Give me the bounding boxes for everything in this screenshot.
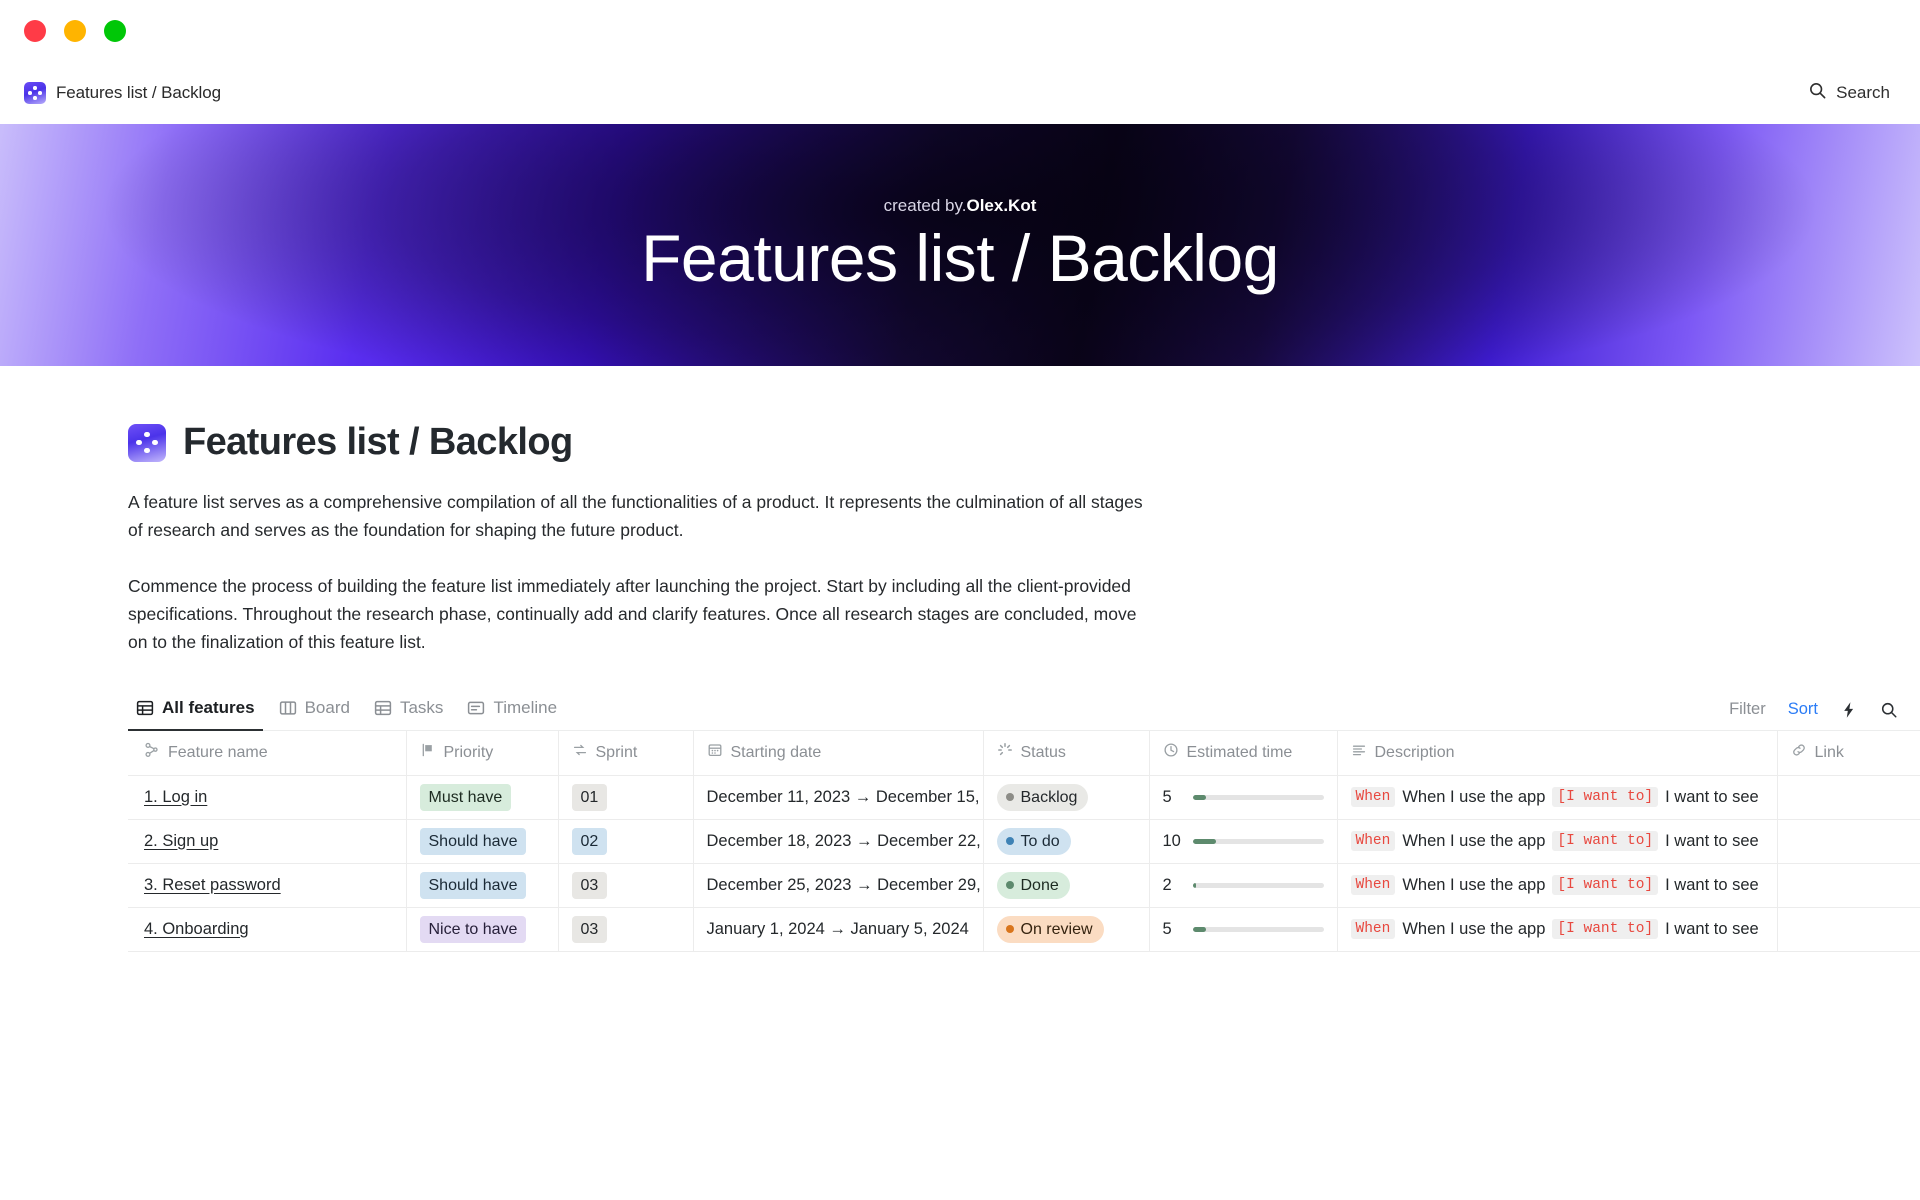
description-text-2: I want to see <box>1665 876 1759 895</box>
status-dot-icon <box>1006 925 1014 933</box>
table-row[interactable]: 3. Reset password Should have 03 Decembe… <box>128 863 1920 907</box>
column-label: Priority <box>444 744 494 762</box>
status-badge: Backlog <box>997 784 1089 811</box>
cell-estimated-time[interactable]: 5 <box>1149 907 1337 951</box>
column-header-sprint[interactable]: Sprint <box>558 731 693 775</box>
sync-arrows-icon <box>572 742 588 763</box>
cell-link[interactable] <box>1777 819 1920 863</box>
cell-starting-date[interactable]: January 1, 2024 → January 5, 2024 <box>693 907 983 951</box>
sprint-badge: 03 <box>572 916 608 943</box>
description-text-1: When I use the app <box>1402 920 1545 939</box>
cell-sprint[interactable]: 01 <box>558 775 693 819</box>
clock-icon <box>1163 742 1179 763</box>
column-label: Status <box>1021 744 1066 762</box>
tab-label: All features <box>162 698 255 718</box>
search-button[interactable]: Search <box>1808 81 1890 105</box>
cell-feature-name[interactable]: 4. Onboarding <box>128 907 406 951</box>
column-header-status[interactable]: Status <box>983 731 1149 775</box>
view-actions: Filter Sort <box>1729 700 1898 730</box>
cell-link[interactable] <box>1777 775 1920 819</box>
maximize-button[interactable] <box>104 20 126 42</box>
table-header-row: Feature name Priority <box>128 731 1920 775</box>
feature-link[interactable]: 3. Reset password <box>144 876 281 894</box>
tab-label: Tasks <box>400 698 443 718</box>
app-bar: Features list / Backlog Search <box>0 62 1920 124</box>
search-icon[interactable] <box>1880 701 1898 719</box>
breadcrumb[interactable]: Features list / Backlog <box>24 82 221 104</box>
status-label: To do <box>1021 831 1060 852</box>
estimated-value: 5 <box>1163 788 1183 807</box>
cell-starting-date[interactable]: December 18, 2023 → December 22, 2023 <box>693 819 983 863</box>
status-label: Backlog <box>1021 787 1078 808</box>
tab-tasks[interactable]: Tasks <box>366 692 451 731</box>
cell-description[interactable]: When When I use the app [I want to] I wa… <box>1337 819 1777 863</box>
cell-sprint[interactable]: 03 <box>558 907 693 951</box>
table-head: Feature name Priority <box>128 731 1920 775</box>
board-columns-icon <box>279 699 297 717</box>
table-icon <box>136 699 154 717</box>
description-code-when: When <box>1351 831 1396 851</box>
hero-credit-author: Olex.Kot <box>966 196 1036 215</box>
priority-pill: Should have <box>420 872 527 899</box>
features-doc-icon <box>24 82 46 104</box>
status-label: On review <box>1021 919 1093 940</box>
table-row[interactable]: 2. Sign up Should have 02 December 18, 2… <box>128 819 1920 863</box>
page-body: Features list / Backlog A feature list s… <box>0 366 1920 952</box>
search-label: Search <box>1836 83 1890 103</box>
cell-estimated-time[interactable]: 10 <box>1149 819 1337 863</box>
table-body: 1. Log in Must have 01 December 11, 2023… <box>128 775 1920 951</box>
column-header-link[interactable]: Link <box>1777 731 1920 775</box>
timeline-icon <box>467 699 485 717</box>
description-text-1: When I use the app <box>1402 788 1545 807</box>
feature-link[interactable]: 4. Onboarding <box>144 920 249 938</box>
progress-bar <box>1193 795 1324 800</box>
features-table: Feature name Priority <box>128 731 1920 952</box>
tab-label: Timeline <box>493 698 557 718</box>
intro-paragraph-1: A feature list serves as a comprehensive… <box>128 488 1153 544</box>
description-code-iwantto: [I want to] <box>1552 919 1658 939</box>
column-header-feature-name[interactable]: Feature name <box>128 731 406 775</box>
spinner-icon <box>997 742 1013 763</box>
priority-pill: Nice to have <box>420 916 527 943</box>
feature-link[interactable]: 2. Sign up <box>144 832 218 850</box>
cell-priority[interactable]: Should have <box>406 819 558 863</box>
status-badge: Done <box>997 872 1070 899</box>
cell-sprint[interactable]: 02 <box>558 819 693 863</box>
intro-paragraph-2: Commence the process of building the fea… <box>128 572 1153 656</box>
hierarchy-node-icon <box>144 742 160 763</box>
cell-description[interactable]: When When I use the app [I want to] I wa… <box>1337 863 1777 907</box>
description-code-iwantto: [I want to] <box>1552 875 1658 895</box>
page-header: Features list / Backlog <box>128 421 1920 464</box>
description-code-iwantto: [I want to] <box>1552 787 1658 807</box>
tab-all-features[interactable]: All features <box>128 692 263 731</box>
column-label: Estimated time <box>1187 744 1293 762</box>
description-text-2: I want to see <box>1665 920 1759 939</box>
description-code-when: When <box>1351 875 1396 895</box>
cell-starting-date[interactable]: December 25, 2023 → December 29, 2023 <box>693 863 983 907</box>
description-text-2: I want to see <box>1665 832 1759 851</box>
progress-bar <box>1193 927 1324 932</box>
sort-button[interactable]: Sort <box>1788 700 1818 719</box>
hero-banner: created by.Olex.Kot Features list / Back… <box>0 124 1920 366</box>
features-doc-icon <box>128 424 166 462</box>
column-header-estimated-time[interactable]: Estimated time <box>1149 731 1337 775</box>
breadcrumb-label: Features list / Backlog <box>56 83 221 103</box>
hero-credit-prefix: created by. <box>884 196 967 215</box>
tab-timeline[interactable]: Timeline <box>459 692 565 731</box>
column-label: Feature name <box>168 744 268 762</box>
hero-title: Features list / Backlog <box>641 222 1279 295</box>
estimated-value: 10 <box>1163 832 1183 851</box>
progress-bar <box>1193 839 1324 844</box>
page-title: Features list / Backlog <box>183 421 573 464</box>
cell-estimated-time[interactable]: 2 <box>1149 863 1337 907</box>
cell-feature-name[interactable]: 1. Log in <box>128 775 406 819</box>
priority-pill: Should have <box>420 828 527 855</box>
feature-link[interactable]: 1. Log in <box>144 788 207 806</box>
cell-feature-name[interactable]: 3. Reset password <box>128 863 406 907</box>
page-content: Features list / Backlog A feature list s… <box>0 421 1920 952</box>
table-row[interactable]: 1. Log in Must have 01 December 11, 2023… <box>128 775 1920 819</box>
lightning-bolt-icon[interactable] <box>1840 701 1858 719</box>
flag-icon <box>420 742 436 763</box>
cell-estimated-time[interactable]: 5 <box>1149 775 1337 819</box>
column-header-priority[interactable]: Priority <box>406 731 558 775</box>
column-header-starting-date[interactable]: Starting date <box>693 731 983 775</box>
description-code-when: When <box>1351 787 1396 807</box>
text-lines-icon <box>1351 742 1367 763</box>
description-text-1: When I use the app <box>1402 832 1545 851</box>
close-button[interactable] <box>24 20 46 42</box>
estimated-value: 2 <box>1163 876 1183 895</box>
table-icon <box>374 699 392 717</box>
cell-priority[interactable]: Should have <box>406 863 558 907</box>
cell-status[interactable]: Done <box>983 863 1149 907</box>
sprint-badge: 02 <box>572 828 608 855</box>
status-label: Done <box>1021 875 1059 896</box>
cell-priority[interactable]: Must have <box>406 775 558 819</box>
column-header-description[interactable]: Description <box>1337 731 1777 775</box>
search-icon <box>1808 81 1827 105</box>
minimize-button[interactable] <box>64 20 86 42</box>
cell-priority[interactable]: Nice to have <box>406 907 558 951</box>
window-titlebar <box>0 0 1920 62</box>
traffic-lights <box>24 20 126 42</box>
tab-label: Board <box>305 698 350 718</box>
view-tabs: All features Board <box>128 692 565 730</box>
estimated-value: 5 <box>1163 920 1183 939</box>
cell-link[interactable] <box>1777 863 1920 907</box>
description-code-iwantto: [I want to] <box>1552 831 1658 851</box>
status-dot-icon <box>1006 881 1014 889</box>
filter-button[interactable]: Filter <box>1729 700 1766 719</box>
chain-link-icon <box>1791 742 1807 763</box>
status-dot-icon <box>1006 837 1014 845</box>
status-badge: On review <box>997 916 1104 943</box>
cell-feature-name[interactable]: 2. Sign up <box>128 819 406 863</box>
table-row[interactable]: 4. Onboarding Nice to have 03 January 1,… <box>128 907 1920 951</box>
status-dot-icon <box>1006 793 1014 801</box>
column-label: Description <box>1375 744 1455 762</box>
cell-starting-date[interactable]: December 11, 2023 → December 15, 2023 <box>693 775 983 819</box>
column-label: Sprint <box>596 744 638 762</box>
description-text-2: I want to see <box>1665 788 1759 807</box>
status-badge: To do <box>997 828 1071 855</box>
sprint-badge: 03 <box>572 872 608 899</box>
cell-link[interactable] <box>1777 907 1920 951</box>
tab-board[interactable]: Board <box>271 692 358 731</box>
column-label: Starting date <box>731 744 822 762</box>
sprint-badge: 01 <box>572 784 608 811</box>
cell-status[interactable]: On review <box>983 907 1149 951</box>
description-text-1: When I use the app <box>1402 876 1545 895</box>
progress-bar <box>1193 883 1324 888</box>
calendar-icon <box>707 742 723 763</box>
views-toolbar: All features Board <box>128 692 1920 731</box>
hero-credit: created by.Olex.Kot <box>884 196 1037 216</box>
cell-status[interactable]: Backlog <box>983 775 1149 819</box>
priority-pill: Must have <box>420 784 512 811</box>
cell-description[interactable]: When When I use the app [I want to] I wa… <box>1337 775 1777 819</box>
cell-description[interactable]: When When I use the app [I want to] I wa… <box>1337 907 1777 951</box>
cell-status[interactable]: To do <box>983 819 1149 863</box>
description-code-when: When <box>1351 919 1396 939</box>
column-label: Link <box>1815 744 1844 762</box>
cell-sprint[interactable]: 03 <box>558 863 693 907</box>
